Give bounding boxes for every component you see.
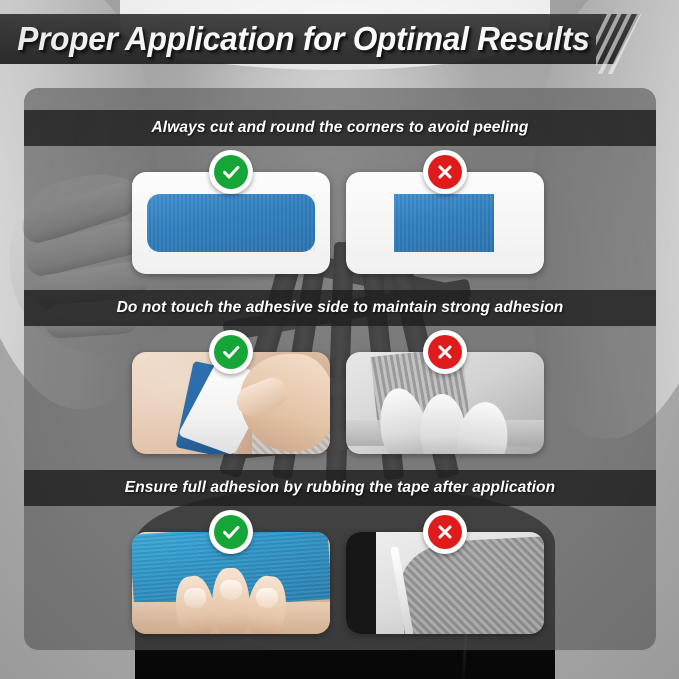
check-icon (214, 515, 248, 549)
badge-correct-corners (209, 150, 253, 194)
cross-icon (428, 335, 462, 369)
section-caption-corners: Always cut and round the corners to avoi… (24, 110, 656, 146)
section-row-rubbing (24, 524, 656, 644)
fingernail (220, 580, 242, 600)
fingernail (184, 588, 206, 608)
photo-dark-edge (346, 532, 376, 634)
peeling-tape (399, 536, 544, 634)
page-title: Proper Application for Optimal Results (0, 20, 590, 58)
cross-icon (428, 155, 462, 189)
fingernail (256, 588, 278, 608)
section-caption-text: Do not touch the adhesive side to mainta… (117, 299, 564, 317)
banner-stripes-icon (596, 14, 660, 74)
header-banner: Proper Application for Optimal Results (0, 14, 640, 64)
section-caption-rubbing: Ensure full adhesion by rubbing the tape… (24, 470, 656, 506)
section-row-adhesive (24, 344, 656, 464)
badge-correct-adhesive (209, 330, 253, 374)
check-icon (214, 335, 248, 369)
infographic-page: Proper Application for Optimal Results A… (0, 0, 679, 679)
badge-incorrect-adhesive (423, 330, 467, 374)
tape-rounded-corners (147, 194, 315, 252)
section-caption-adhesive: Do not touch the adhesive side to mainta… (24, 290, 656, 326)
check-icon (214, 155, 248, 189)
section-caption-text: Always cut and round the corners to avoi… (152, 119, 529, 137)
tape-square-corners (394, 194, 494, 252)
badge-correct-rubbing (209, 510, 253, 554)
section-caption-text: Ensure full adhesion by rubbing the tape… (125, 479, 555, 497)
badge-incorrect-corners (423, 150, 467, 194)
section-row-corners (24, 164, 656, 284)
badge-incorrect-rubbing (423, 510, 467, 554)
cross-icon (428, 515, 462, 549)
